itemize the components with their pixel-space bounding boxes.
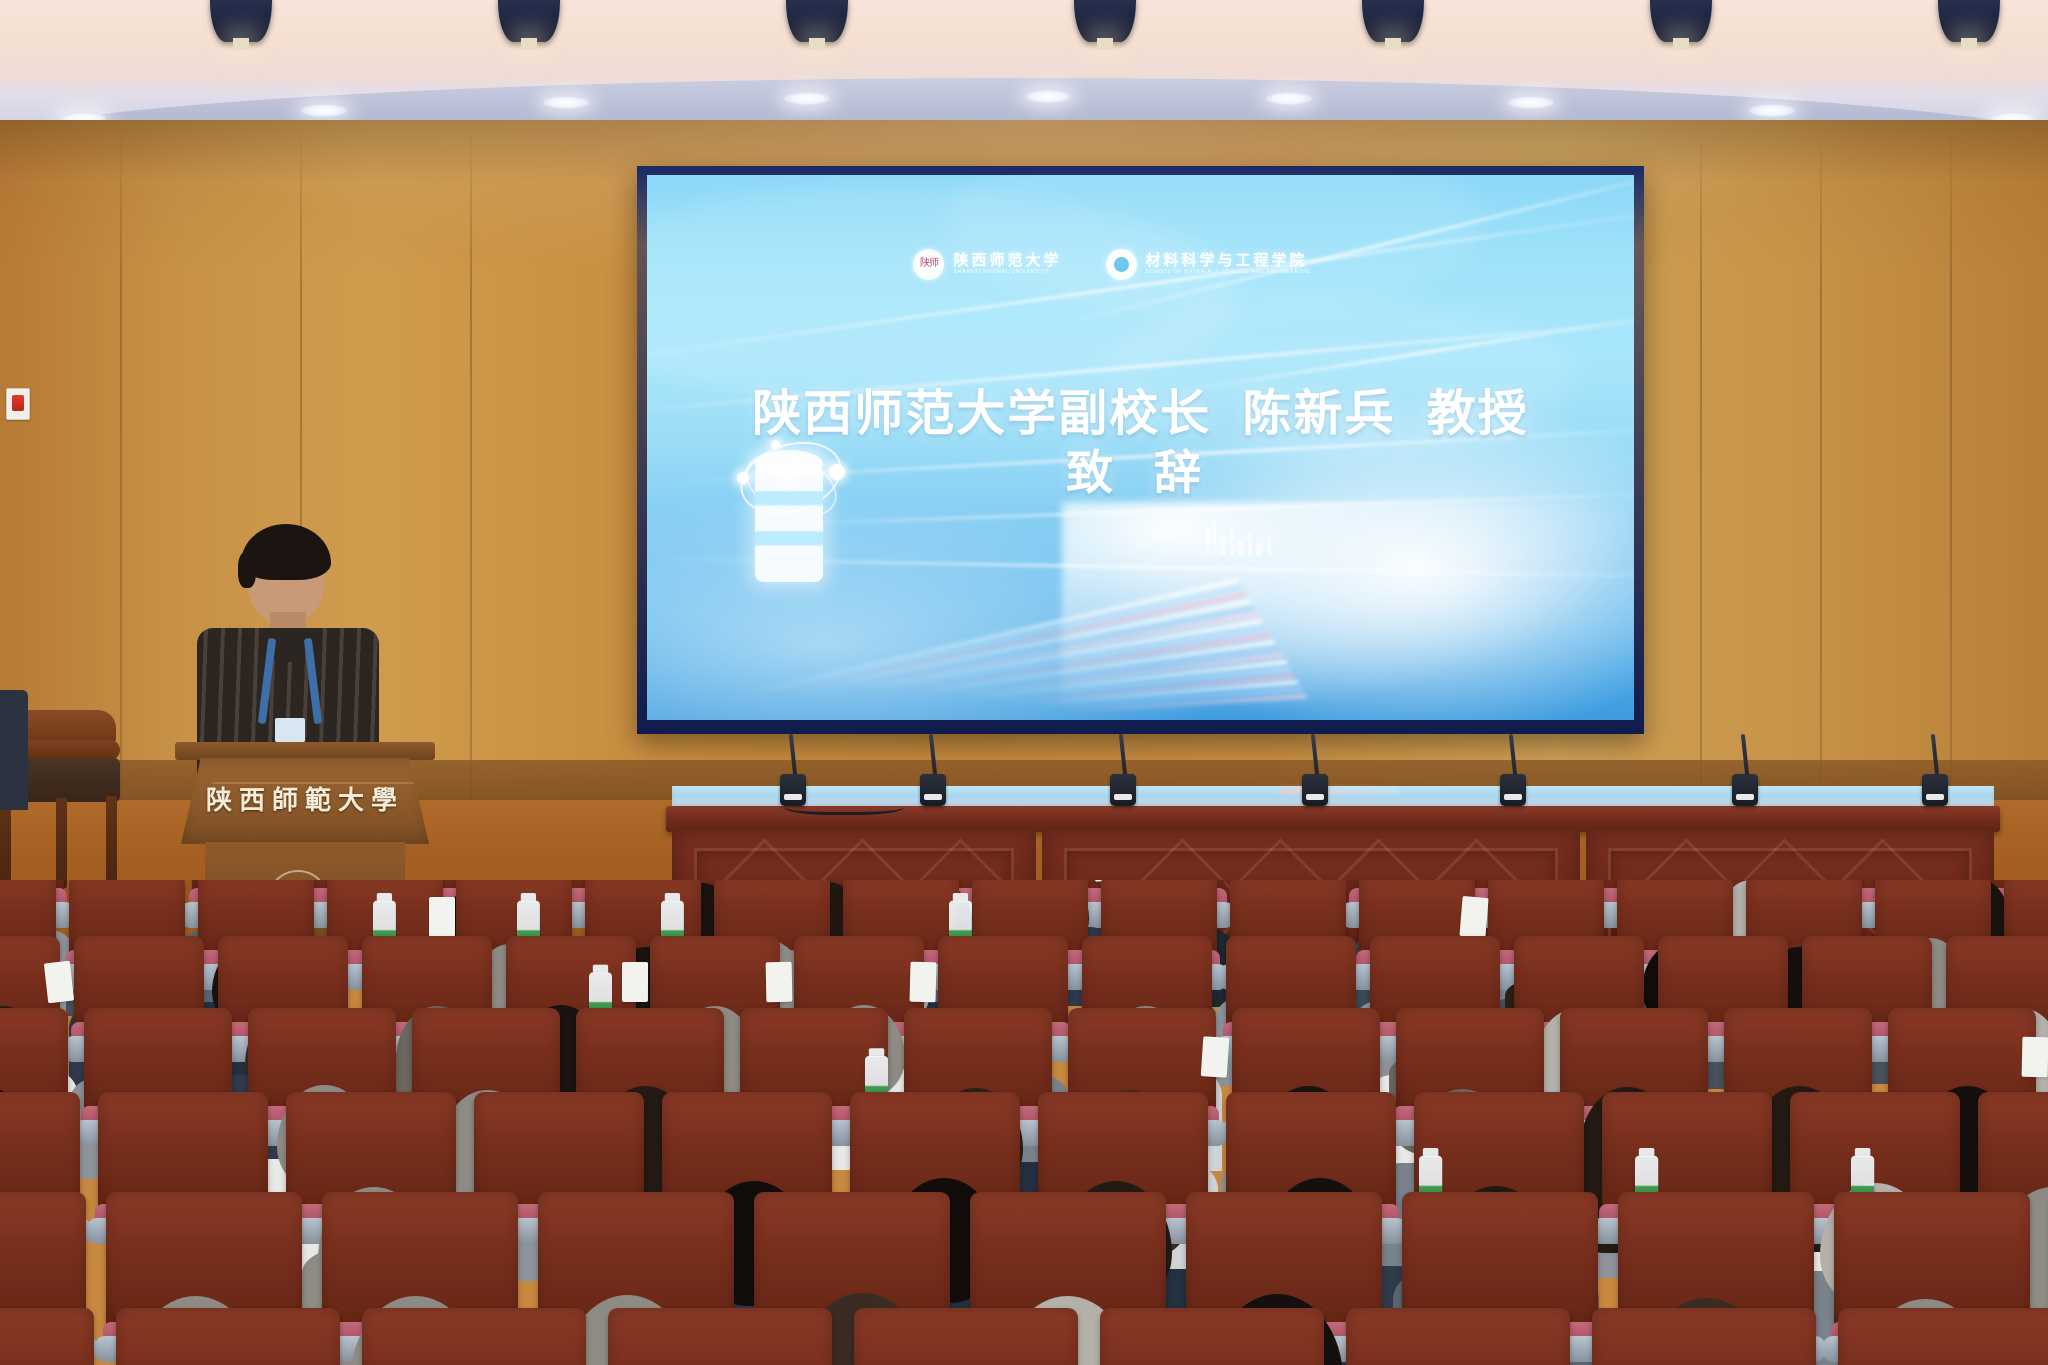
- school-seal-icon: [1106, 249, 1137, 280]
- seal-text: 陕师: [920, 259, 938, 269]
- downlight-icon: [301, 104, 347, 117]
- microphone-icon: [1110, 768, 1136, 832]
- led-screen: 陕师 陕西师范大学 SHAANXI NORMAL UNIVERSITY 材料科学…: [647, 175, 1634, 720]
- stage-light-icon: [210, 0, 272, 42]
- screen-logo-row: 陕师 陕西师范大学 SHAANXI NORMAL UNIVERSITY 材料科学…: [913, 249, 1310, 280]
- auditorium-seat[interactable]: [854, 1308, 1078, 1365]
- handout-paper: [766, 962, 793, 1002]
- speaker-badge: [275, 718, 305, 742]
- microphone-icon: [1732, 768, 1758, 832]
- handout-paper: [44, 961, 74, 1004]
- microphone-cable: [784, 796, 904, 815]
- auditorium-seat[interactable]: [1100, 1308, 1324, 1365]
- logo-shaanxi-normal-university: 陕师 陕西师范大学 SHAANXI NORMAL UNIVERSITY: [913, 249, 1061, 280]
- microphone-icon: [1922, 768, 1948, 832]
- auditorium-seat[interactable]: [608, 1308, 832, 1365]
- downlight-icon: [1266, 92, 1312, 105]
- logo-name-en: SHAANXI NORMAL UNIVERSITY: [953, 270, 1061, 276]
- city-skyline-icon: [1200, 513, 1320, 555]
- microphone-icon: [1302, 768, 1328, 832]
- speaker-hair: [241, 524, 331, 580]
- downlight-icon: [784, 92, 830, 105]
- stage-light-icon: [1938, 0, 2000, 42]
- microphone-icon: [920, 768, 946, 832]
- handout-paper: [1201, 1036, 1230, 1078]
- auditorium-seat[interactable]: [116, 1308, 340, 1365]
- handout-paper: [2022, 1037, 2048, 1078]
- downlight-icon: [1749, 104, 1795, 117]
- stage-light-icon: [1074, 0, 1136, 42]
- slide-subtitle: 致 辞: [647, 434, 1634, 503]
- handout-paper: [1459, 896, 1488, 938]
- handout-paper: [622, 962, 648, 1002]
- auditorium-seat[interactable]: [1838, 1308, 2048, 1365]
- logo-name-cn: 材料科学与工程学院: [1146, 253, 1311, 269]
- seated-person-stage-left: [0, 690, 28, 810]
- stage-light-icon: [498, 0, 560, 42]
- fire-alarm-icon: [6, 388, 30, 420]
- logo-name-cn: 陕西师范大学: [953, 253, 1061, 269]
- stage-light-icon: [786, 0, 848, 42]
- auditorium-seat[interactable]: [0, 1308, 94, 1365]
- handout-paper: [429, 897, 455, 937]
- stage-light-icon: [1362, 0, 1424, 42]
- logo-school-materials-science: 材料科学与工程学院 SCHOOL OF MATERIALS SCIENCE AN…: [1106, 249, 1311, 280]
- audience-seating: [0, 880, 2048, 1365]
- logo-name-en: SCHOOL OF MATERIALS SCIENCE AND ENGINEER…: [1146, 270, 1311, 276]
- auditorium-photo: 陕师 陕西师范大学 SHAANXI NORMAL UNIVERSITY 材料科学…: [0, 0, 2048, 1365]
- downlight-icon: [1025, 90, 1071, 103]
- university-seal-icon: 陕师: [913, 249, 944, 280]
- handout-paper: [909, 962, 936, 1003]
- led-screen-bezel: 陕师 陕西师范大学 SHAANXI NORMAL UNIVERSITY 材料科学…: [637, 166, 1644, 734]
- microphone-icon: [1500, 768, 1526, 832]
- auditorium-seat[interactable]: [362, 1308, 586, 1365]
- stage-light-icon: [1650, 0, 1712, 42]
- auditorium-seat[interactable]: [1346, 1308, 1570, 1365]
- auditorium-seat[interactable]: [1592, 1308, 1816, 1365]
- podium-inscription: 陕西師範大學: [175, 780, 435, 817]
